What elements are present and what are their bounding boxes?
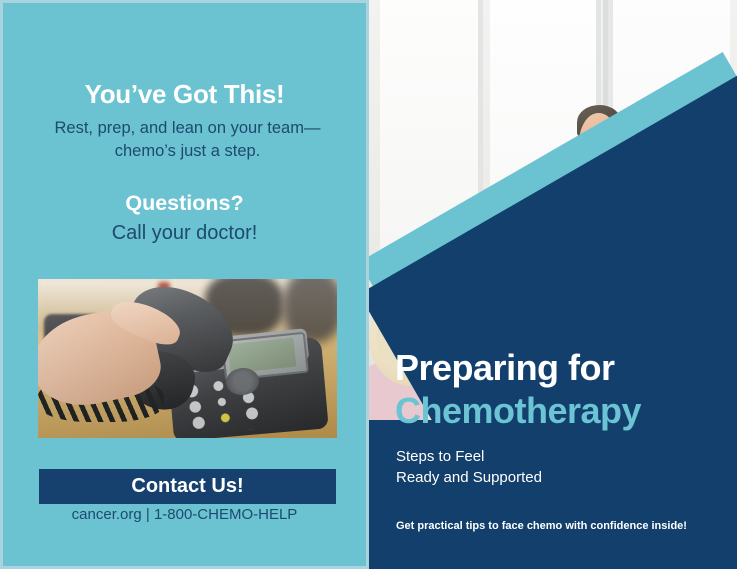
headline-line-1: Preparing for bbox=[395, 347, 725, 389]
left-panel: You’ve Got This! Rest, prep, and lean on… bbox=[0, 0, 369, 569]
contact-info-line[interactable]: cancer.org | 1-800-CHEMO-HELP bbox=[3, 506, 366, 523]
tagline: Get practical tips to face chemo with co… bbox=[396, 520, 726, 532]
headline-block: Preparing for Chemotherapy bbox=[395, 347, 725, 433]
right-panel: simplates template preview Preparing for… bbox=[369, 0, 737, 569]
contact-us-button-label: Contact Us! bbox=[131, 475, 243, 498]
headline-line-2: Chemotherapy bbox=[395, 389, 725, 433]
subheadline-block: Steps to Feel Ready and Supported bbox=[396, 446, 716, 488]
left-panel-content: You’ve Got This! Rest, prep, and lean on… bbox=[3, 3, 366, 566]
contact-us-button[interactable]: Contact Us! bbox=[39, 469, 336, 504]
lead-subtitle: Rest, prep, and lean on your team—chemo’… bbox=[41, 117, 334, 163]
lead-title: You’ve Got This! bbox=[3, 79, 366, 110]
photo-lighting-overlay bbox=[38, 279, 337, 438]
questions-title: Questions? bbox=[3, 191, 366, 216]
questions-subtitle: Call your doctor! bbox=[3, 222, 366, 245]
flyer-canvas: You’ve Got This! Rest, prep, and lean on… bbox=[0, 0, 737, 569]
subheadline-line-1: Steps to Feel bbox=[396, 446, 716, 467]
desk-phone-photo bbox=[38, 279, 337, 438]
subheadline-line-2: Ready and Supported bbox=[396, 467, 716, 488]
